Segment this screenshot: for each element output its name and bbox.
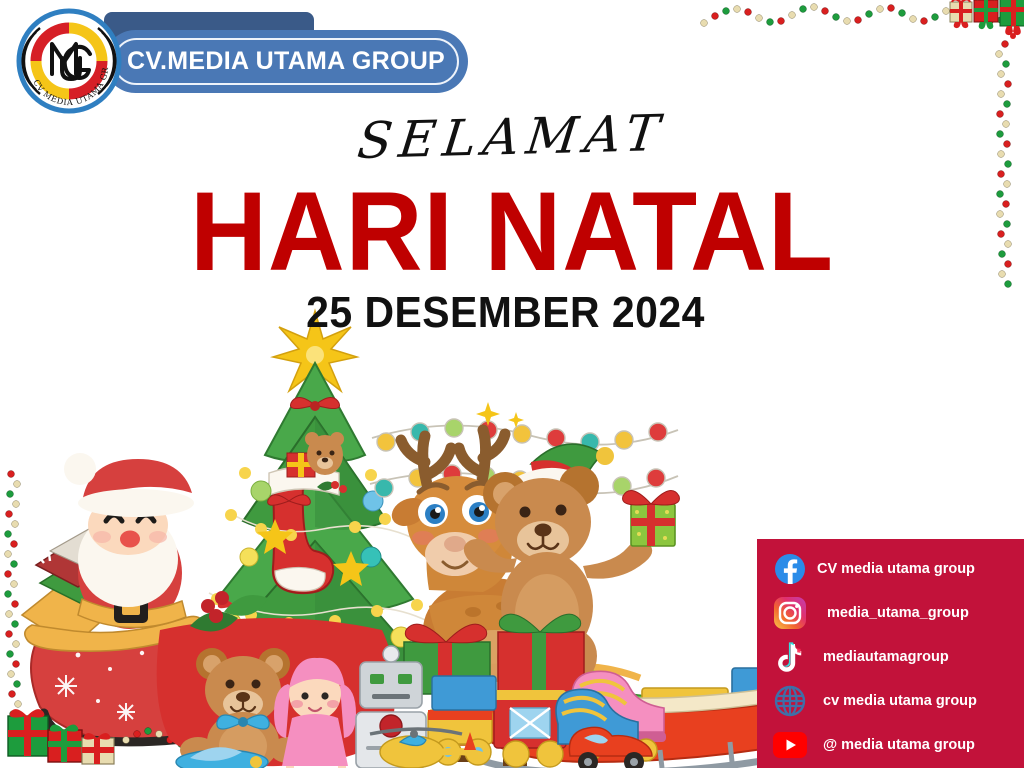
social-label-youtube: @ media utama group xyxy=(817,737,975,753)
instagram-icon[interactable] xyxy=(773,596,807,630)
youtube-icon[interactable] xyxy=(773,728,807,762)
greeting-date: 25 DESEMBER 2024 xyxy=(36,288,988,338)
gift-boxes-bottom-left xyxy=(4,694,124,768)
social-label-instagram: media_utama_group xyxy=(817,605,969,621)
company-logo: CV MEDIA UTAMA GROUP xyxy=(16,8,122,114)
tiktok-icon[interactable] xyxy=(773,640,807,674)
header-banner: CV.MEDIA UTAMA GROUP xyxy=(104,30,468,93)
company-name-text: CV.MEDIA UTAMA GROUP xyxy=(104,30,468,93)
social-row-instagram[interactable]: media_utama_group xyxy=(757,591,1024,635)
globe-icon[interactable] xyxy=(773,684,807,718)
social-row-website[interactable]: cv media utama group xyxy=(757,679,1024,723)
christmas-greeting-card: CV.MEDIA UTAMA GROUP xyxy=(0,0,1024,768)
social-label-tiktok: mediautamagroup xyxy=(817,649,949,665)
toys-illustration xyxy=(160,590,680,768)
social-media-panel: CV media utama group xyxy=(757,539,1024,768)
social-label-facebook: CV media utama group xyxy=(817,561,975,577)
social-row-youtube[interactable]: @ media utama group xyxy=(757,723,1024,767)
social-row-tiktok[interactable]: mediautamagroup xyxy=(757,635,1024,679)
greeting-script-line: SELAMAT xyxy=(0,95,1024,180)
social-label-website: cv media utama group xyxy=(817,693,977,709)
facebook-icon[interactable] xyxy=(773,552,807,586)
greeting-headline: HARI NATAL xyxy=(26,176,999,288)
social-row-facebook[interactable]: CV media utama group xyxy=(757,547,1024,591)
